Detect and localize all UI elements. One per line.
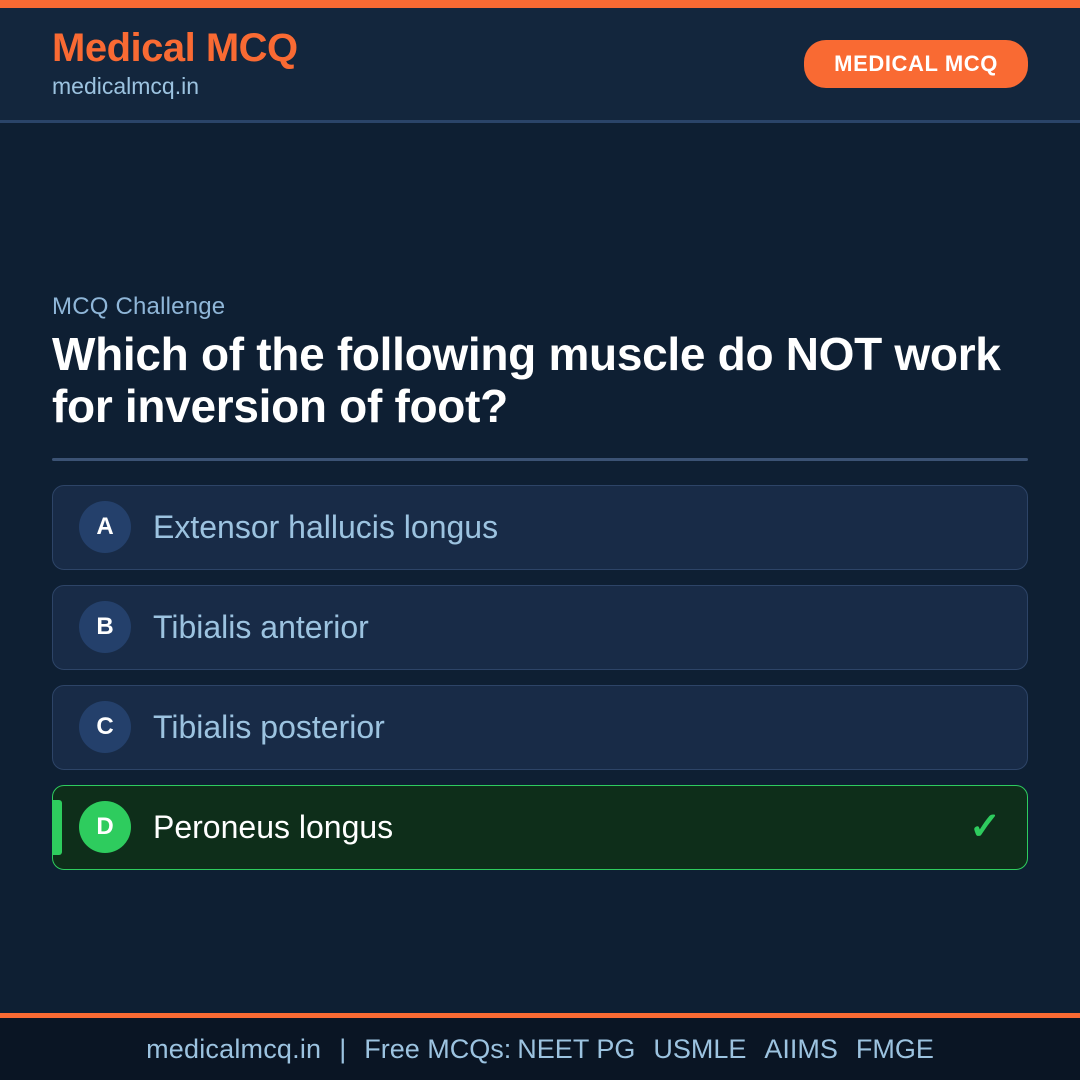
question-eyebrow: MCQ Challenge <box>52 293 1028 321</box>
main-content: MCQ Challenge Which of the following mus… <box>0 123 1080 1013</box>
option-a-letter: A <box>79 501 131 553</box>
page-header: Medical MCQ medicalmcq.in MEDICAL MCQ <box>0 8 1080 123</box>
checkmark-icon: ✓ <box>969 808 1001 846</box>
footer-tag-aiims: AIIMS <box>764 1034 838 1065</box>
brand-subtitle: medicalmcq.in <box>52 72 298 102</box>
option-b[interactable]: B Tibialis anterior <box>52 585 1028 670</box>
option-b-letter: B <box>79 601 131 653</box>
brand-title: Medical MCQ <box>52 27 298 69</box>
top-accent-bar <box>0 0 1080 8</box>
option-d-letter: D <box>79 801 131 853</box>
footer-site: medicalmcq.in <box>146 1034 321 1065</box>
options-list: A Extensor hallucis longus B Tibialis an… <box>52 485 1028 870</box>
option-a[interactable]: A Extensor hallucis longus <box>52 485 1028 570</box>
page-footer: medicalmcq.in | Free MCQs: NEET PG USMLE… <box>0 1018 1080 1080</box>
footer-tag-neet-pg: NEET PG <box>517 1034 635 1065</box>
footer-label: Free MCQs: <box>364 1034 511 1065</box>
mcq-card: Medical MCQ medicalmcq.in MEDICAL MCQ MC… <box>0 0 1080 1080</box>
footer-tag-usmle: USMLE <box>653 1034 746 1065</box>
question-block: MCQ Challenge Which of the following mus… <box>52 293 1028 485</box>
footer-tag-fmge: FMGE <box>856 1034 934 1065</box>
option-d-label: Peroneus longus <box>153 810 953 845</box>
correct-accent-bar <box>53 800 62 855</box>
option-a-label: Extensor hallucis longus <box>153 510 1001 545</box>
footer-tags: NEET PG USMLE AIIMS FMGE <box>517 1034 934 1065</box>
header-badge-pill: MEDICAL MCQ <box>804 40 1028 88</box>
option-c-label: Tibialis posterior <box>153 710 1001 745</box>
question-text: Which of the following muscle do NOT wor… <box>52 329 1028 433</box>
brand-block: Medical MCQ medicalmcq.in <box>52 27 298 102</box>
option-c-letter: C <box>79 701 131 753</box>
question-divider <box>52 458 1028 461</box>
option-d-correct[interactable]: D Peroneus longus ✓ <box>52 785 1028 870</box>
option-c[interactable]: C Tibialis posterior <box>52 685 1028 770</box>
footer-separator: | <box>321 1034 364 1065</box>
option-b-label: Tibialis anterior <box>153 610 1001 645</box>
